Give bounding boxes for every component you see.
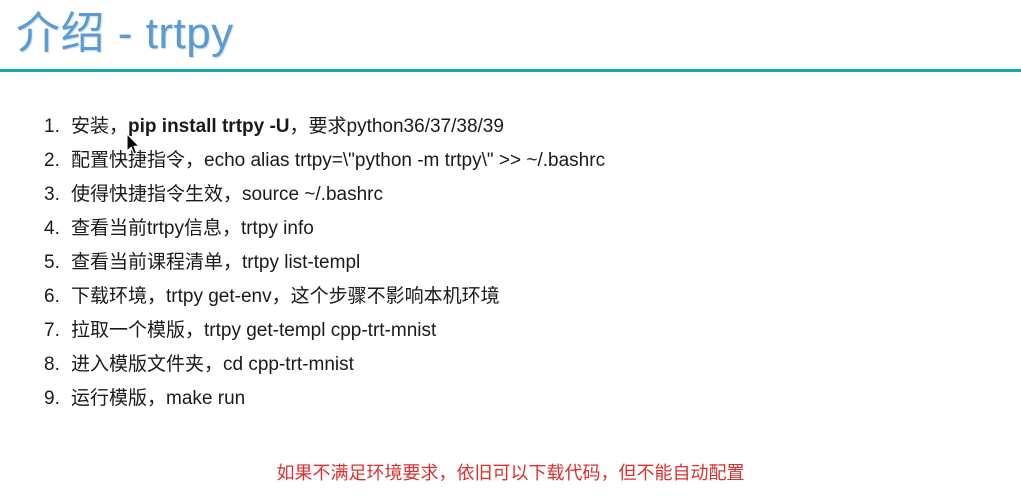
slide-canvas: 介绍 - trtpy 1.安装，pip install trtpy -U，要求p… [0, 0, 1021, 501]
list-item-number: 9. [44, 382, 71, 416]
list-item: 9.运行模版，make run [44, 382, 974, 416]
text-segment: 查看当前课程清单，trtpy list-templ [71, 252, 360, 273]
list-item-number: 5. [44, 246, 71, 280]
list-item-text: 进入模版文件夹，cd cpp-trt-mnist [71, 348, 354, 382]
list-item-number: 3. [44, 178, 71, 212]
list-item-text: 拉取一个模版，trtpy get-templ cpp-trt-mnist [71, 314, 436, 348]
list-item: 8.进入模版文件夹，cd cpp-trt-mnist [44, 348, 974, 382]
text-segment: 查看当前trtpy信息，trtpy info [71, 218, 314, 239]
list-item-text: 安装，pip install trtpy -U，要求python36/37/38… [71, 110, 504, 144]
text-segment: 拉取一个模版，trtpy get-templ cpp-trt-mnist [71, 320, 436, 341]
text-segment: 安装， [71, 116, 128, 137]
list-item-text: 查看当前课程清单，trtpy list-templ [71, 246, 360, 280]
footer-warning-note: 如果不满足环境要求，依旧可以下载代码，但不能自动配置 [0, 460, 1021, 486]
list-item: 2.配置快捷指令，echo alias trtpy=\"python -m tr… [44, 144, 974, 178]
text-segment: ，要求python36/37/38/39 [290, 116, 504, 137]
command-emphasis: pip install trtpy -U [128, 116, 290, 137]
list-item-text: 运行模版，make run [71, 382, 245, 416]
text-segment: 运行模版，make run [71, 388, 245, 409]
list-item-number: 7. [44, 314, 71, 348]
list-item: 4.查看当前trtpy信息，trtpy info [44, 212, 974, 246]
list-item-number: 4. [44, 212, 71, 246]
title-divider [0, 69, 1021, 72]
list-item: 3.使得快捷指令生效，source ~/.bashrc [44, 178, 974, 212]
text-segment: 使得快捷指令生效，source ~/.bashrc [71, 184, 383, 205]
list-item-number: 2. [44, 144, 71, 178]
list-item: 1.安装，pip install trtpy -U，要求python36/37/… [44, 110, 974, 144]
list-item-text: 查看当前trtpy信息，trtpy info [71, 212, 314, 246]
list-item: 5.查看当前课程清单，trtpy list-templ [44, 246, 974, 280]
list-item-text: 使得快捷指令生效，source ~/.bashrc [71, 178, 383, 212]
text-segment: 进入模版文件夹，cd cpp-trt-mnist [71, 354, 354, 375]
list-item-number: 8. [44, 348, 71, 382]
list-item-number: 1. [44, 110, 71, 144]
list-item: 6.下载环境，trtpy get-env，这个步骤不影响本机环境 [44, 280, 974, 314]
text-segment: 配置快捷指令，echo alias trtpy=\"python -m trtp… [71, 150, 605, 171]
page-title: 介绍 - trtpy [16, 4, 234, 64]
list-item-number: 6. [44, 280, 71, 314]
list-item-text: 配置快捷指令，echo alias trtpy=\"python -m trtp… [71, 144, 605, 178]
instruction-step-list: 1.安装，pip install trtpy -U，要求python36/37/… [44, 110, 974, 416]
text-segment: 下载环境，trtpy get-env，这个步骤不影响本机环境 [71, 286, 500, 307]
list-item: 7.拉取一个模版，trtpy get-templ cpp-trt-mnist [44, 314, 974, 348]
list-item-text: 下载环境，trtpy get-env，这个步骤不影响本机环境 [71, 280, 500, 314]
